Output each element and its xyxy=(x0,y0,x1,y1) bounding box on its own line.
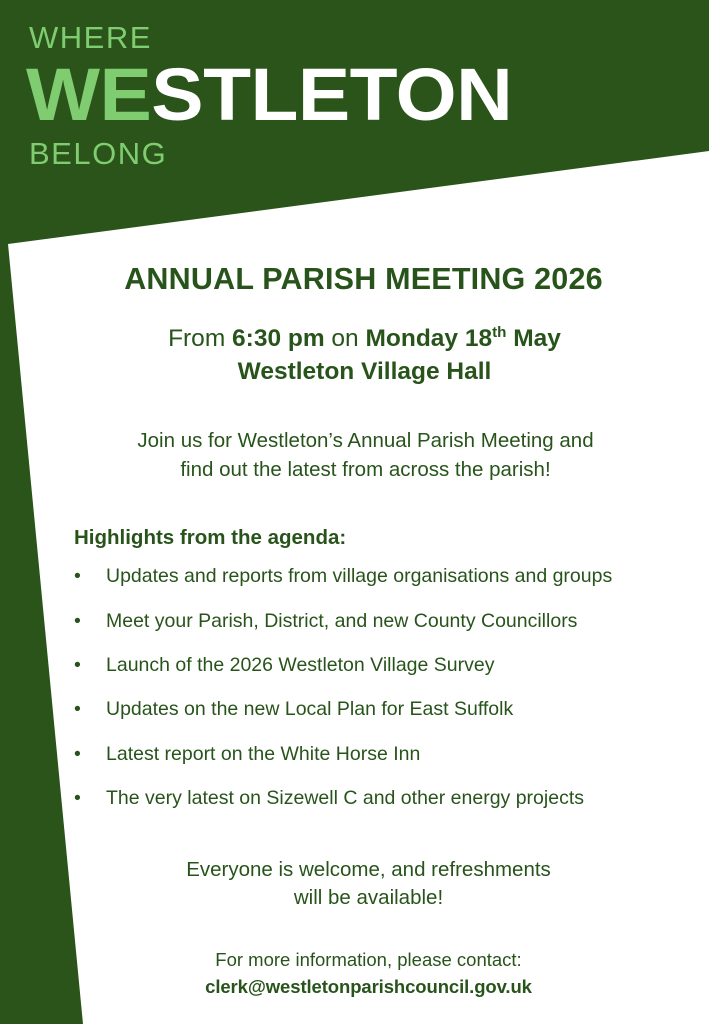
contact-email[interactable]: clerk@westletonparishcouncil.gov.uk xyxy=(28,974,709,1001)
list-item-label: Updates and reports from village organis… xyxy=(106,565,612,587)
list-item-label: Updates on the new Local Plan for East S… xyxy=(106,698,513,720)
poster-content: ANNUAL PARISH MEETING 2026 From 6:30 pm … xyxy=(0,262,709,1001)
list-item: • Launch of the 2026 Westleton Village S… xyxy=(0,653,709,678)
closing-line-2: will be available! xyxy=(294,886,443,909)
list-item-label: The very latest on Sizewell C and other … xyxy=(106,787,584,809)
closing-line-1: Everyone is welcome, and refreshments xyxy=(186,858,551,881)
poster-root: WHERE WESTLETON BELONG ANNUAL PARISH MEE… xyxy=(0,0,709,1024)
when-ordinal-suffix: th xyxy=(492,324,506,341)
list-item-label: Latest report on the White Horse Inn xyxy=(106,743,420,765)
list-item-label: Meet your Parish, District, and new Coun… xyxy=(106,610,577,632)
list-item: • Meet your Parish, District, and new Co… xyxy=(0,609,709,634)
contact-prompt: For more information, please contact: xyxy=(215,949,521,970)
closing-note: Everyone is welcome, and refreshments wi… xyxy=(28,856,709,913)
agenda-list: • Updates and reports from village organ… xyxy=(0,564,709,811)
brand-wordmark: WESTLETON xyxy=(26,58,512,132)
list-item: • The very latest on Sizewell C and othe… xyxy=(0,786,709,811)
bullet-icon: • xyxy=(74,697,86,722)
event-datetime: From 6:30 pm on Monday 18th May Westleto… xyxy=(20,323,709,388)
agenda-heading: Highlights from the agenda: xyxy=(74,526,709,550)
brand-line-where: WHERE xyxy=(29,22,485,53)
when-month: May xyxy=(506,325,560,352)
list-item: • Latest report on the White Horse Inn xyxy=(0,742,709,767)
intro-line-1: Join us for Westleton’s Annual Parish Me… xyxy=(137,429,593,452)
bullet-icon: • xyxy=(74,742,86,767)
intro-paragraph: Join us for Westleton’s Annual Parish Me… xyxy=(22,426,709,484)
when-middle: on xyxy=(325,325,366,352)
brand-line-belong: BELONG xyxy=(29,138,485,169)
list-item: • Updates and reports from village organ… xyxy=(0,564,709,589)
list-item-label: Launch of the 2026 Westleton Village Sur… xyxy=(106,654,494,676)
brand-wordmark-stleton: STLETON xyxy=(151,53,512,136)
when-prefix: From xyxy=(168,325,232,352)
when-time: 6:30 pm xyxy=(232,325,325,352)
list-item: • Updates on the new Local Plan for East… xyxy=(0,697,709,722)
when-daydate-text: Monday 18 xyxy=(366,325,493,352)
bullet-icon: • xyxy=(74,653,86,678)
brand-wordmark-we: WE xyxy=(26,53,151,136)
brand-logo: WHERE WESTLETON BELONG xyxy=(26,22,485,169)
bullet-icon: • xyxy=(74,609,86,634)
intro-line-2: find out the latest from across the pari… xyxy=(180,458,550,481)
bullet-icon: • xyxy=(74,564,86,589)
bullet-icon: • xyxy=(74,786,86,811)
event-venue: Westleton Village Hall xyxy=(20,356,709,389)
when-day-date: Monday 18th May xyxy=(366,325,561,352)
page-title: ANNUAL PARISH MEETING 2026 xyxy=(18,262,709,297)
contact-block: For more information, please contact: cl… xyxy=(28,947,709,1001)
